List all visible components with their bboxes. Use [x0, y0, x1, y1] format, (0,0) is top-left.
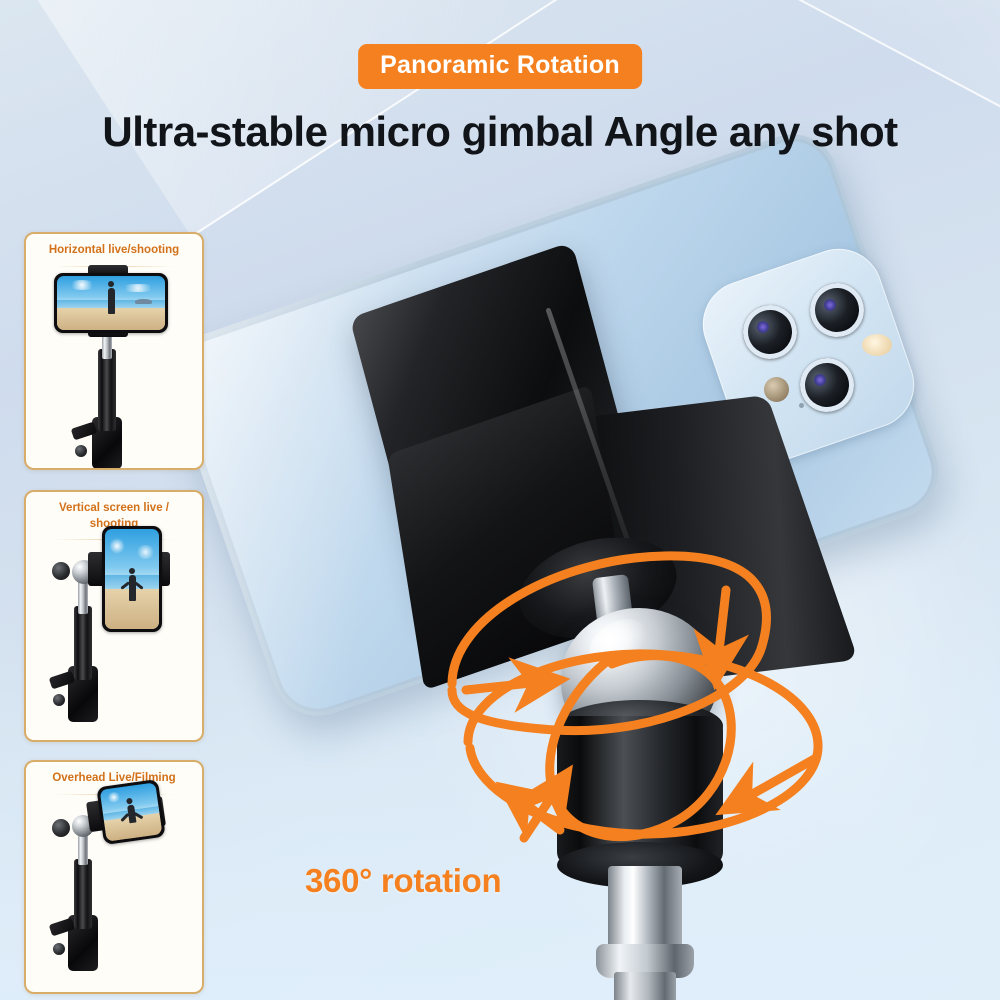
- yaw-arrow-left: [520, 800, 560, 830]
- camera-lens-telephoto-icon: [793, 351, 862, 420]
- mini-phone-screen: [57, 276, 165, 330]
- tripod-black-post: [557, 716, 723, 866]
- phone-clamp-front-face: [387, 385, 628, 691]
- pitch-rotation-ellipse: [550, 656, 732, 837]
- camera-module: [691, 237, 926, 472]
- mini-phone-horizontal: [54, 273, 168, 333]
- screen-cloud-icon: [68, 280, 96, 290]
- tripod-chrome-pole-upper: [608, 866, 682, 956]
- gimbal-ball-socket: [509, 522, 687, 654]
- page-title: Ultra-stable micro gimbal Angle any shot: [0, 108, 1000, 156]
- screen-cloud2-icon: [120, 284, 157, 292]
- phone-clamp-right-wing: [559, 395, 858, 685]
- yaw-rotation-ellipse: [468, 654, 818, 834]
- phone-clamp-edge-highlight: [545, 307, 647, 592]
- roll-arrow-left: [466, 682, 540, 690]
- background-glow: [430, 380, 1000, 1000]
- tripod-pole: [98, 349, 116, 431]
- mode-card-vertical[interactable]: Vertical screen live / shooting: [24, 490, 204, 742]
- pitch-arrow: [524, 790, 556, 838]
- mode-card-horizontal[interactable]: Horizontal live/shooting: [24, 232, 204, 470]
- camera-lens-ultrawide-icon: [803, 276, 872, 345]
- mode-card-overhead[interactable]: Overhead Live/Filming: [24, 760, 204, 994]
- mode-card-figure-horizontal: [26, 267, 202, 470]
- gimbal-lock-knob-icon: [52, 562, 70, 580]
- mode-card-figure-vertical: [26, 540, 202, 742]
- screen-rock: [135, 299, 152, 304]
- screen-cloud2-icon: [136, 545, 154, 559]
- smartphone-frame-rail: [159, 122, 951, 728]
- mini-phone-overhead: [96, 778, 165, 844]
- smartphone-body: [159, 122, 951, 728]
- tripod-lock-knob-icon: [53, 694, 65, 706]
- tripod-lock-knob-icon: [53, 943, 65, 955]
- screen-person-icon: [129, 575, 136, 601]
- lidar-sensor-icon: [764, 377, 789, 402]
- gimbal-ball-highlight: [582, 610, 656, 676]
- rotation-label: 360° rotation: [305, 862, 501, 900]
- gimbal-chrome-ball: [561, 608, 717, 748]
- screen-person-icon: [108, 288, 115, 314]
- tripod-chrome-pole-lower: [614, 972, 676, 1000]
- yaw-arrow-right: [742, 758, 816, 800]
- mini-phone-screen: [105, 529, 159, 629]
- gimbal-lock-knob-icon: [52, 819, 70, 837]
- tripod-chrome-section: [78, 580, 88, 614]
- gimbal-ball-stem: [592, 574, 636, 648]
- mini-phone-screen: [100, 782, 163, 841]
- roll-arrow-down: [718, 590, 726, 660]
- tripod-pole: [74, 859, 92, 929]
- gimbal-ball-collar: [557, 700, 723, 752]
- mode-card-title: Horizontal live/shooting: [26, 234, 202, 266]
- camera-microphone-icon: [799, 403, 804, 408]
- phone-clamp-body: [349, 242, 649, 609]
- product-marketing-image: 360° rotation Panoramic Rotation Ultra-s…: [0, 0, 1000, 1000]
- tripod-black-post-base: [557, 842, 723, 888]
- roll-rotation-ellipse: [452, 556, 766, 731]
- camera-lens-wide-icon: [736, 298, 805, 367]
- camera-flash-icon: [862, 334, 892, 356]
- screen-cloud-icon: [110, 537, 124, 555]
- panoramic-rotation-badge: Panoramic Rotation: [358, 44, 642, 89]
- tripod-chrome-section: [78, 833, 88, 865]
- screen-cloud-icon: [106, 791, 122, 802]
- tripod-lock-knob-icon: [75, 445, 87, 457]
- mode-card-figure-overhead: [26, 795, 202, 994]
- mini-phone-vertical: [102, 526, 162, 632]
- tripod-pole: [74, 606, 92, 680]
- background-diagonal-panel-right: [654, 0, 1000, 205]
- tripod-chrome-flange: [596, 944, 694, 978]
- smartphone-sheen: [159, 122, 951, 728]
